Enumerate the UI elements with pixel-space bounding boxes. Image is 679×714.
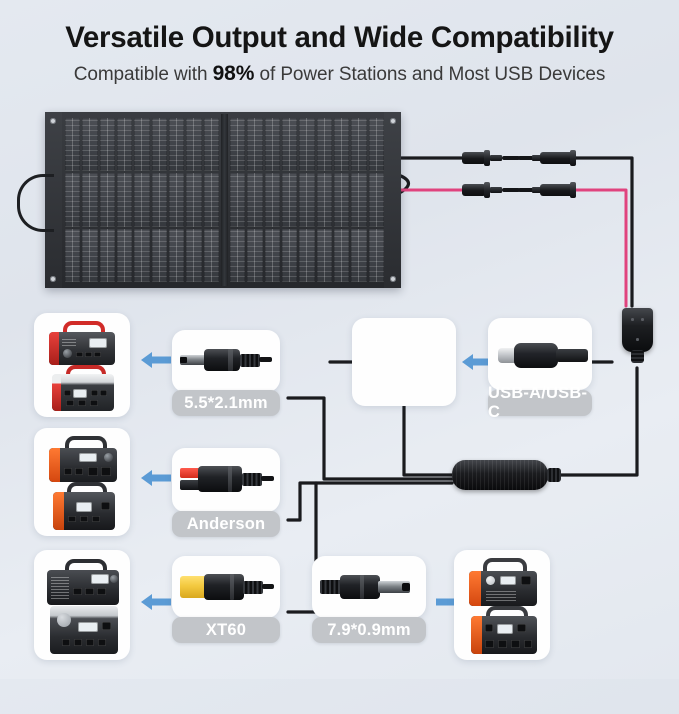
device-port	[88, 467, 98, 476]
solar-cell	[317, 229, 332, 282]
device-body	[52, 374, 114, 411]
solar-cell	[100, 118, 115, 171]
y-split-connector	[622, 308, 653, 370]
mc4-connector-male-top	[462, 150, 520, 166]
power-station-orange2-angled	[471, 606, 537, 654]
solar-cell	[334, 173, 349, 226]
device-vent	[51, 575, 69, 599]
panel-cell-row	[65, 118, 219, 171]
solar-cell	[230, 118, 245, 171]
solar-cell	[152, 118, 167, 171]
power-station-red-angled	[52, 365, 114, 411]
solar-cell	[186, 173, 201, 226]
device-display	[91, 574, 109, 584]
y-split-head	[622, 308, 653, 352]
device-body	[50, 606, 118, 654]
power-station-orange-front	[48, 436, 118, 482]
solar-cell	[334, 229, 349, 282]
card-power-station-orange-2[interactable]	[454, 550, 550, 660]
device-port	[98, 639, 106, 646]
device-port	[521, 576, 531, 585]
solar-cell	[317, 118, 332, 171]
label-xt60: XT60	[172, 617, 280, 643]
solar-cell	[247, 173, 262, 226]
xt60-connector	[180, 572, 274, 602]
solar-cell	[117, 229, 132, 282]
junction-body	[452, 460, 548, 490]
device-body	[471, 616, 537, 654]
card-dc-5521[interactable]	[172, 330, 280, 392]
device-port	[85, 588, 94, 595]
device-port	[68, 516, 76, 522]
device-port	[498, 640, 507, 648]
device-port	[100, 390, 107, 396]
solar-cell	[369, 118, 384, 171]
device-port	[101, 467, 111, 476]
card-power-station-gray[interactable]	[34, 550, 130, 660]
device-display	[78, 622, 98, 632]
solar-cell	[65, 173, 80, 226]
panel-wing-left	[65, 118, 219, 282]
device-vent	[62, 337, 76, 346]
device-side-panel	[471, 616, 482, 654]
card-anderson[interactable]	[172, 448, 280, 512]
device-body	[49, 332, 115, 365]
card-usb[interactable]	[488, 318, 592, 390]
solar-cell	[334, 118, 349, 171]
device-knob	[63, 349, 72, 358]
device-port	[101, 502, 110, 510]
card-power-station-orange[interactable]	[34, 428, 130, 536]
device-port	[78, 400, 86, 406]
arrow-to-gray-station	[139, 592, 173, 617]
solar-cell	[317, 173, 332, 226]
device-side-panel	[53, 492, 64, 530]
label-anderson: Anderson	[172, 511, 280, 537]
solar-cell	[186, 229, 201, 282]
solar-cell	[204, 229, 219, 282]
device-port	[75, 468, 83, 475]
power-station-orange2-front	[468, 558, 538, 606]
device-port	[91, 390, 98, 396]
device-port	[86, 639, 94, 646]
solar-cell	[351, 118, 366, 171]
infographic-canvas: Versatile Output and Wide Compatibility …	[0, 0, 679, 679]
solar-cell	[65, 118, 80, 171]
device-port	[92, 516, 100, 522]
junction-strain-relief	[547, 468, 561, 482]
device-port	[90, 400, 98, 406]
panel-eyelet	[390, 118, 396, 124]
solar-cell	[265, 118, 280, 171]
device-vent	[486, 591, 516, 601]
solar-cell	[82, 118, 97, 171]
power-station-gray-angled	[50, 606, 118, 654]
solar-cell	[230, 229, 245, 282]
device-display	[76, 502, 92, 512]
solar-cell	[169, 173, 184, 226]
panel-cell-row	[230, 229, 384, 282]
solar-cell	[299, 173, 314, 226]
solar-cell	[282, 173, 297, 226]
inline-cable-junction	[452, 460, 548, 490]
solar-cell	[134, 173, 149, 226]
solar-cell	[152, 229, 167, 282]
device-body	[53, 492, 115, 530]
panel-eyelet	[390, 276, 396, 282]
device-side-panel	[469, 571, 481, 606]
device-port	[85, 352, 92, 357]
device-port	[485, 624, 493, 632]
arrow-to-orange-station	[139, 468, 173, 493]
card-dc-7909[interactable]	[312, 556, 426, 618]
device-display	[89, 338, 107, 348]
anderson-connector	[180, 464, 274, 494]
panel-cell-row	[65, 229, 219, 282]
power-station-red-front	[47, 321, 117, 365]
device-port	[73, 588, 82, 595]
wire-to-ysplit-pink	[560, 190, 626, 306]
device-port	[511, 640, 520, 648]
label-dc-7909: 7.9*0.9mm	[312, 617, 426, 643]
panel-cell-row	[230, 118, 384, 171]
solar-cell	[82, 173, 97, 226]
device-knob	[110, 575, 118, 583]
foldable-solar-panel	[45, 112, 401, 288]
device-side-panel	[49, 332, 59, 365]
wire-to-ysplit-black	[576, 158, 632, 306]
card-xt60[interactable]	[172, 556, 280, 618]
dc-barrel-5-5x2-1-plug	[180, 346, 272, 374]
solar-cell	[282, 118, 297, 171]
solar-cell	[299, 118, 314, 171]
card-power-station-red[interactable]	[34, 313, 130, 417]
device-port	[64, 390, 71, 396]
device-body	[469, 571, 537, 606]
solar-cell	[369, 173, 384, 226]
mc4-connector-male-bottom	[462, 182, 520, 198]
device-display	[79, 453, 97, 462]
panel-cell-row	[230, 173, 384, 226]
device-port	[517, 624, 526, 632]
solar-cell	[117, 118, 132, 171]
solar-cell	[117, 173, 132, 226]
device-port	[485, 640, 494, 648]
wire-junction-to-dc5521	[288, 398, 452, 479]
power-station-gray-front	[47, 559, 119, 605]
device-knob	[486, 576, 495, 585]
arrow-to-red-station	[139, 350, 173, 375]
y-split-strain-relief	[631, 350, 644, 363]
device-side-panel	[49, 448, 60, 482]
solar-cell	[369, 229, 384, 282]
device-port	[74, 639, 82, 646]
solar-cell	[230, 173, 245, 226]
solar-cell	[134, 118, 149, 171]
solar-cell	[265, 229, 280, 282]
solar-cell	[134, 229, 149, 282]
device-port	[64, 468, 72, 475]
device-display	[497, 624, 513, 634]
solar-cell	[351, 229, 366, 282]
solar-cell	[82, 229, 97, 282]
device-port	[94, 352, 101, 357]
device-port	[97, 588, 106, 595]
label-usb: USB-A/USB-C	[488, 390, 592, 416]
mc4-connector-female-bottom	[518, 182, 580, 198]
solar-cell	[65, 229, 80, 282]
device-port	[76, 352, 83, 357]
usb-a-usb-c-connector	[498, 340, 588, 370]
solar-cell	[152, 173, 167, 226]
solar-cell	[100, 229, 115, 282]
solar-cell	[351, 173, 366, 226]
power-station-orange-angled	[53, 482, 115, 530]
label-dc-5521: 5.5*2.1mm	[172, 390, 280, 416]
solar-cell	[100, 173, 115, 226]
solar-cell	[299, 229, 314, 282]
solar-cell	[169, 229, 184, 282]
solar-cell	[282, 229, 297, 282]
device-port	[102, 622, 111, 630]
device-display	[500, 576, 516, 585]
panel-wing-right	[230, 118, 384, 282]
solar-cell	[186, 118, 201, 171]
solar-cell	[247, 118, 262, 171]
device-port	[524, 640, 532, 648]
solar-cell	[204, 118, 219, 171]
solar-cell	[247, 229, 262, 282]
device-port	[66, 400, 74, 406]
card-tablet-phone[interactable]: ⚡	[352, 318, 456, 406]
panel-rail-right	[384, 112, 401, 288]
mc4-connector-female-top	[518, 150, 580, 166]
device-side-panel	[52, 374, 61, 411]
panel-cell-row	[65, 173, 219, 226]
wire-junction-to-anderson	[288, 483, 452, 520]
solar-cell	[265, 173, 280, 226]
device-port	[62, 639, 70, 646]
panel-hinge	[221, 114, 228, 286]
device-body	[49, 448, 117, 482]
device-knob	[104, 453, 113, 462]
device-port	[80, 516, 88, 522]
device-display	[73, 389, 87, 398]
panel-eyelet	[50, 276, 56, 282]
panel-eyelet	[50, 118, 56, 124]
device-fan	[57, 613, 71, 627]
solar-cell	[169, 118, 184, 171]
dc-barrel-7-9x0-9-plug	[320, 572, 418, 602]
device-body	[47, 570, 119, 605]
solar-cell	[204, 173, 219, 226]
